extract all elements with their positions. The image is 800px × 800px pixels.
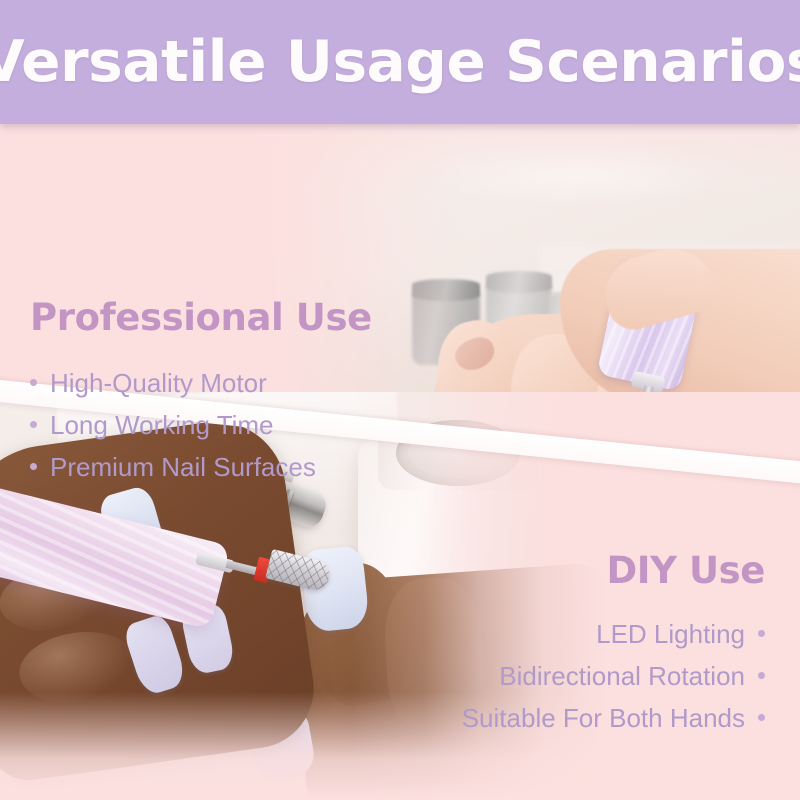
header-banner: Versatile Usage Scenarios	[0, 0, 800, 124]
feature-label: Bidirectional Rotation	[499, 655, 745, 697]
professional-text-block: Professional Use High-Quality Motor Long…	[30, 299, 450, 488]
list-item: Suitable For Both Hands	[335, 697, 765, 739]
list-item: Bidirectional Rotation	[335, 655, 765, 697]
bullet-dot-icon	[30, 463, 37, 470]
feature-label: Suitable For Both Hands	[462, 697, 745, 739]
list-item: Premium Nail Surfaces	[30, 446, 450, 488]
diy-heading: DIY Use	[335, 552, 765, 591]
list-item: Long Working Time	[30, 404, 450, 446]
page-title: Versatile Usage Scenarios	[0, 29, 800, 95]
bullet-dot-icon	[758, 630, 765, 637]
bullet-dot-icon	[758, 672, 765, 679]
feature-label: High-Quality Motor	[50, 362, 267, 404]
diy-feature-list: LED Lighting Bidirectional Rotation Suit…	[335, 613, 765, 739]
infographic-canvas: Versatile Usage Scenarios	[0, 0, 800, 800]
feature-label: Long Working Time	[50, 404, 274, 446]
content-stage: Professional Use High-Quality Motor Long…	[0, 124, 800, 800]
bullet-dot-icon	[30, 421, 37, 428]
list-item: High-Quality Motor	[30, 362, 450, 404]
bullet-dot-icon	[30, 379, 37, 386]
feature-label: LED Lighting	[596, 613, 745, 655]
list-item: LED Lighting	[335, 613, 765, 655]
bullet-dot-icon	[758, 714, 765, 721]
professional-heading: Professional Use	[30, 299, 450, 338]
feature-label: Premium Nail Surfaces	[50, 446, 316, 488]
professional-feature-list: High-Quality Motor Long Working Time Pre…	[30, 362, 450, 488]
diy-text-block: DIY Use LED Lighting Bidirectional Rotat…	[335, 552, 765, 739]
